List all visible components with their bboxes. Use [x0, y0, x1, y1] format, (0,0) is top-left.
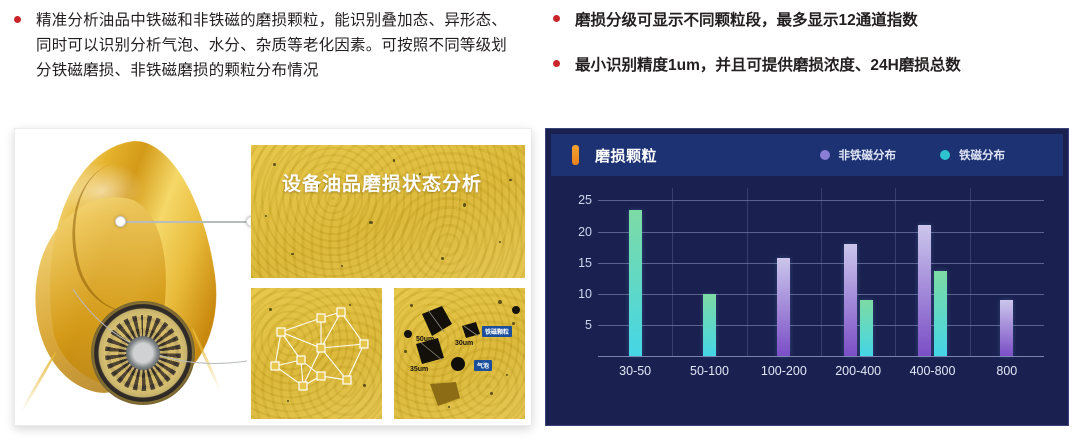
x-axis-label: 100-200	[761, 364, 807, 378]
connector-node-left	[115, 216, 126, 227]
bar-200-400-非铁磁分布[interactable]	[844, 244, 857, 356]
micrograph-network	[251, 288, 382, 419]
particle-type-badge: 铁磁颗粒	[482, 326, 512, 337]
bar-50-100-铁磁分布[interactable]	[703, 294, 716, 356]
bullet-dot-icon	[14, 16, 21, 23]
micrograph-title: 设备油品磨损状态分析	[251, 169, 513, 196]
bullet-list-left: 精准分析油品中铁磁和非铁磁的磨损颗粒，能识别叠加态、异形态、同时可以识别分析气泡…	[14, 8, 514, 97]
particle-size-label: 50um	[416, 336, 434, 343]
bullet-text: 磨损分级可显示不同颗粒段，最多显示12通道指数	[575, 8, 918, 33]
legend-label: 非铁磁分布	[839, 147, 897, 163]
bar-30-50-铁磁分布[interactable]	[629, 210, 642, 356]
legend-item-nonferromagnetic[interactable]: 非铁磁分布	[820, 147, 897, 163]
bullet-text: 精准分析油品中铁磁和非铁磁的磨损颗粒，能识别叠加态、异形态、同时可以识别分析气泡…	[36, 8, 514, 83]
chart-panel-header: 磨损颗粒 非铁磁分布 铁磁分布	[551, 134, 1063, 176]
bullet-list-right: 磨损分级可显示不同颗粒段，最多显示12通道指数 最小识别精度1um，并且可提供磨…	[553, 8, 1065, 98]
bullet-text: 最小识别精度1um，并且可提供磨损浓度、24H磨损总数	[575, 53, 961, 78]
bullet-dot-icon	[553, 60, 560, 67]
legend-dot-icon	[940, 150, 950, 160]
bearing-image	[91, 301, 195, 405]
legend-item-ferromagnetic[interactable]: 铁磁分布	[940, 147, 1005, 163]
x-axis-label: 50-100	[690, 364, 729, 378]
bar-800-非铁磁分布[interactable]	[1000, 300, 1013, 356]
bar-chart-plot: 510152025 30-5050-100100-200200-400400-8…	[564, 188, 1050, 414]
chart-bars	[598, 188, 1044, 356]
list-item: 磨损分级可显示不同颗粒段，最多显示12通道指数	[553, 8, 1065, 33]
oil-splash-illustration	[19, 133, 247, 423]
micrograph-particles: 50um 30um 35um 铁磁颗粒 气泡	[394, 288, 525, 419]
y-axis-tick-label: 15	[578, 256, 592, 270]
x-axis-label: 400-800	[910, 364, 956, 378]
legend-label: 铁磁分布	[959, 147, 1005, 163]
y-axis-ticks: 510152025	[564, 188, 598, 356]
bar-400-800-非铁磁分布[interactable]	[918, 225, 931, 356]
legend-dot-icon	[820, 150, 830, 160]
network-graph-overlay	[251, 288, 382, 419]
photo-card: 设备油品磨损状态分析	[14, 128, 532, 426]
particle-size-label: 30um	[455, 340, 473, 347]
y-axis-tick-label: 20	[578, 225, 592, 239]
list-item: 精准分析油品中铁磁和非铁磁的磨损颗粒，能识别叠加态、异形态、同时可以识别分析气泡…	[14, 8, 514, 83]
bullet-dot-icon	[553, 15, 560, 22]
particle-shapes	[394, 288, 525, 419]
list-item: 最小识别精度1um，并且可提供磨损浓度、24H磨损总数	[553, 53, 1065, 78]
y-axis-tick-label: 25	[578, 193, 592, 207]
axis-baseline	[598, 356, 1044, 357]
bar-400-800-铁磁分布[interactable]	[934, 271, 947, 356]
micrograph-main: 设备油品磨损状态分析	[251, 145, 525, 278]
y-axis-tick-label: 5	[585, 318, 592, 332]
oil-tail-shape	[20, 351, 58, 413]
x-axis-label: 200-400	[835, 364, 881, 378]
particle-size-label: 35um	[410, 366, 428, 373]
chart-title: 磨损颗粒	[595, 145, 657, 166]
accent-bar-icon	[572, 145, 579, 165]
bar-200-400-铁磁分布[interactable]	[860, 300, 873, 356]
particle-type-badge: 气泡	[474, 360, 492, 371]
x-axis-labels: 30-5050-100100-200200-400400-800800	[598, 364, 1044, 386]
y-axis-tick-label: 10	[578, 287, 592, 301]
wear-particle-chart-panel: 磨损颗粒 非铁磁分布 铁磁分布 510152025 30-5050-100100…	[545, 128, 1069, 426]
bar-100-200-非铁磁分布[interactable]	[777, 258, 790, 356]
x-axis-label: 800	[996, 364, 1017, 378]
x-axis-label: 30-50	[619, 364, 651, 378]
chart-legend: 非铁磁分布 铁磁分布	[776, 147, 1006, 163]
slide-root: 精准分析油品中铁磁和非铁磁的磨损颗粒，能识别叠加态、异形态、同时可以识别分析气泡…	[0, 0, 1075, 442]
